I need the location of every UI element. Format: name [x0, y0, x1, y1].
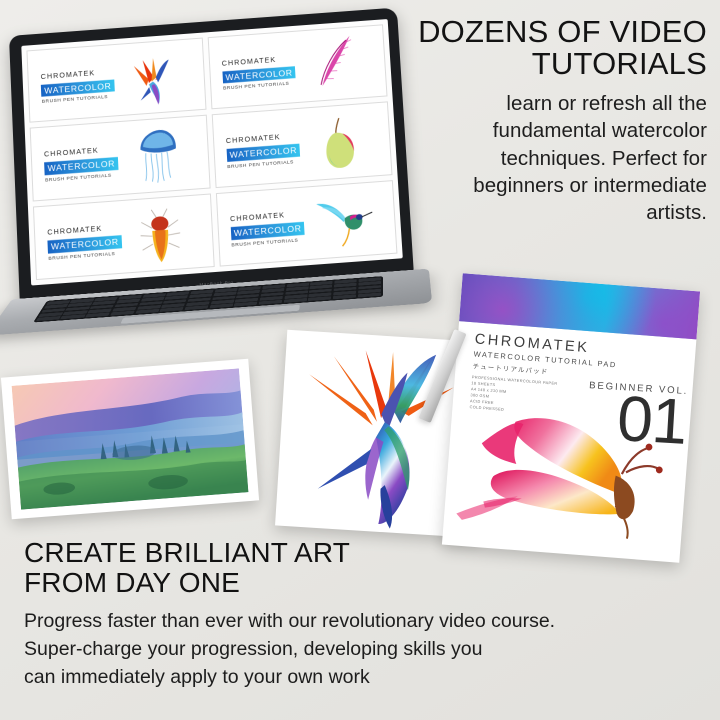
top-body-line-4: beginners or intermediate: [385, 172, 707, 199]
thumbnail-badge: WATERCOLOR: [41, 79, 115, 97]
bottom-body-line-3: can immediately apply to your own work: [24, 664, 584, 692]
top-heading: DOZENS OF VIDEO TUTORIALS: [385, 16, 707, 79]
product-marketing-image: CHROMATEK WATERCOLOR BRUSH PEN TUTORIALS: [0, 0, 720, 720]
bottom-heading: CREATE BRILLIANT ART FROM DAY ONE: [24, 538, 584, 598]
butterfly-artwork: [444, 401, 688, 559]
laptop-lid: CHROMATEK WATERCOLOR BRUSH PEN TUTORIALS: [9, 7, 414, 303]
bottom-copy-block: CREATE BRILLIANT ART FROM DAY ONE Progre…: [24, 538, 584, 692]
thumbnail-brand: CHROMATEK: [44, 141, 153, 158]
thumbnail-brand: CHROMATEK: [41, 64, 149, 81]
top-body-line-3: techniques. Perfect for: [385, 145, 707, 172]
top-heading-line-1: DOZENS OF VIDEO: [385, 16, 707, 48]
laptop-screen: CHROMATEK WATERCOLOR BRUSH PEN TUTORIALS: [21, 19, 403, 285]
thumbnail-badge: WATERCOLOR: [226, 144, 300, 162]
thumbnail-brand: CHROMATEK: [226, 128, 335, 145]
thumbnail-brand: CHROMATEK: [222, 50, 330, 67]
video-thumbnail-card[interactable]: CHROMATEK WATERCOLOR BRUSH PEN TUTORIALS: [207, 24, 387, 109]
top-body-line-1: learn or refresh all the: [385, 90, 707, 117]
video-thumbnail-card[interactable]: CHROMATEK WATERCOLOR BRUSH PEN TUTORIALS: [211, 102, 392, 188]
thumbnail-badge: WATERCOLOR: [48, 235, 122, 253]
thumbnail-badge: WATERCOLOR: [222, 66, 296, 84]
thumbnail-badge: WATERCOLOR: [44, 157, 118, 175]
top-body-text: learn or refresh all the fundamental wat…: [385, 90, 707, 226]
watercolor-landscape-print: [1, 359, 259, 520]
bottom-body-text: Progress faster than ever with our revol…: [24, 608, 584, 691]
watercolor-tutorial-pad: CHROMATEK WATERCOLOR TUTORIAL PAD チュートリア…: [442, 273, 700, 562]
video-thumbnail-card[interactable]: CHROMATEK WATERCOLOR BRUSH PEN TUTORIALS: [215, 180, 397, 267]
thumbnail-brand: CHROMATEK: [230, 206, 339, 223]
top-heading-line-2: TUTORIALS: [385, 48, 707, 80]
bottom-body-line-1: Progress faster than ever with our revol…: [24, 608, 584, 636]
top-copy-block: DOZENS OF VIDEO TUTORIALS learn or refre…: [385, 16, 707, 226]
bottom-body-line-2: Super-charge your progression, developin…: [24, 636, 584, 664]
video-thumbnail-card[interactable]: CHROMATEK WATERCOLOR BRUSH PEN TUTORIALS: [33, 193, 214, 280]
bottom-heading-line-1: CREATE BRILLIANT ART: [24, 538, 584, 568]
laptop-mockup: CHROMATEK WATERCOLOR BRUSH PEN TUTORIALS: [0, 0, 435, 357]
bottom-heading-line-2: FROM DAY ONE: [24, 568, 584, 598]
thumbnail-badge: WATERCOLOR: [231, 222, 306, 240]
tuscan-landscape-artwork: [12, 368, 249, 509]
thumbnail-brand: CHROMATEK: [47, 220, 156, 237]
top-body-line-5: artists.: [385, 199, 707, 226]
video-thumbnail-card[interactable]: CHROMATEK WATERCOLOR BRUSH PEN TUTORIALS: [30, 115, 210, 201]
top-body-line-2: fundamental watercolor: [385, 117, 707, 144]
video-thumbnail-card[interactable]: CHROMATEK WATERCOLOR BRUSH PEN TUTORIALS: [26, 38, 206, 123]
